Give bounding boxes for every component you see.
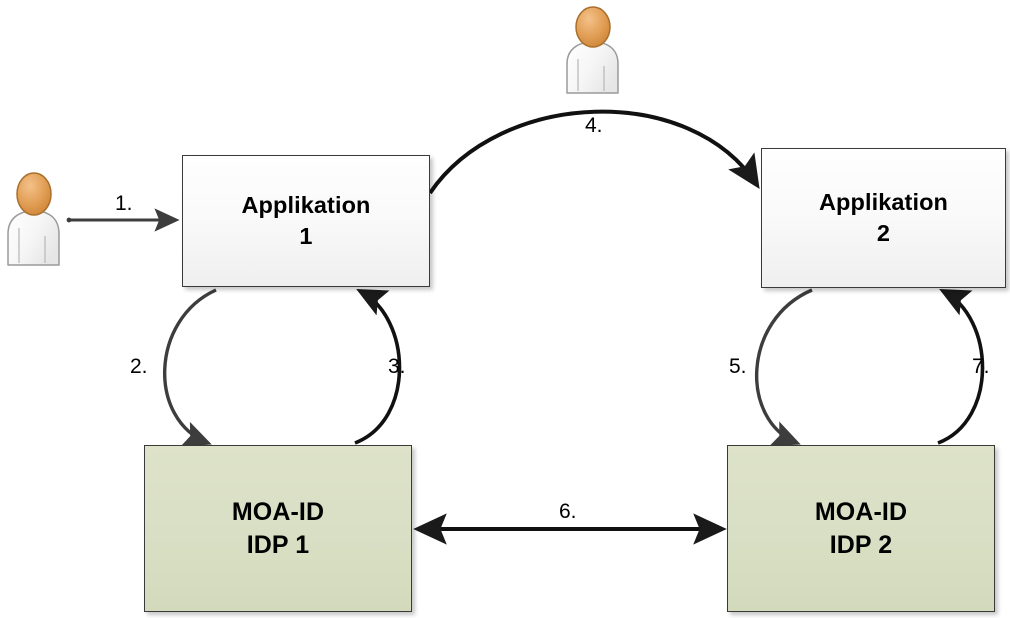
moa-id-idp-1-box[interactable]: MOA-ID IDP 1 — [144, 445, 412, 612]
applikation-2-label-line1: Applikation — [819, 187, 948, 218]
person-head-left — [17, 173, 51, 215]
arrow-user-to-applikation-1 — [67, 218, 176, 223]
step-label-3: 3. — [388, 355, 406, 379]
arrow-applikation-1-to-idp-1 — [165, 290, 216, 443]
moa-id-idp-1-label-line2: IDP 1 — [247, 529, 310, 562]
moa-id-idp-2-box[interactable]: MOA-ID IDP 2 — [727, 445, 995, 612]
diagram-canvas: Applikation 1 Applikation 2 MOA-ID IDP 1… — [0, 0, 1010, 618]
step-label-5: 5. — [729, 355, 747, 379]
moa-id-idp-1-label-line1: MOA-ID — [232, 496, 324, 529]
applikation-1-label-line1: Applikation — [241, 190, 370, 221]
arrow-applikation-2-to-idp-2 — [757, 290, 812, 443]
step-label-6: 6. — [559, 500, 577, 524]
applikation-2-label-line2: 2 — [877, 218, 890, 249]
applikation-1-label-line2: 1 — [299, 221, 312, 252]
person-body-top — [567, 42, 618, 93]
applikation-1-box[interactable]: Applikation 1 — [182, 155, 430, 287]
applikation-2-box[interactable]: Applikation 2 — [761, 148, 1006, 288]
user-person-icon-left — [4, 170, 66, 268]
person-body-left — [8, 211, 59, 265]
step-label-7: 7. — [972, 355, 990, 379]
person-head-top — [576, 7, 610, 47]
moa-id-idp-2-label-line2: IDP 2 — [830, 529, 893, 562]
moa-id-idp-2-label-line1: MOA-ID — [815, 496, 907, 529]
step-label-4: 4. — [585, 114, 603, 138]
step-label-2: 2. — [130, 355, 148, 379]
user-person-icon-top — [563, 4, 625, 96]
step-label-1: 1. — [115, 192, 133, 216]
